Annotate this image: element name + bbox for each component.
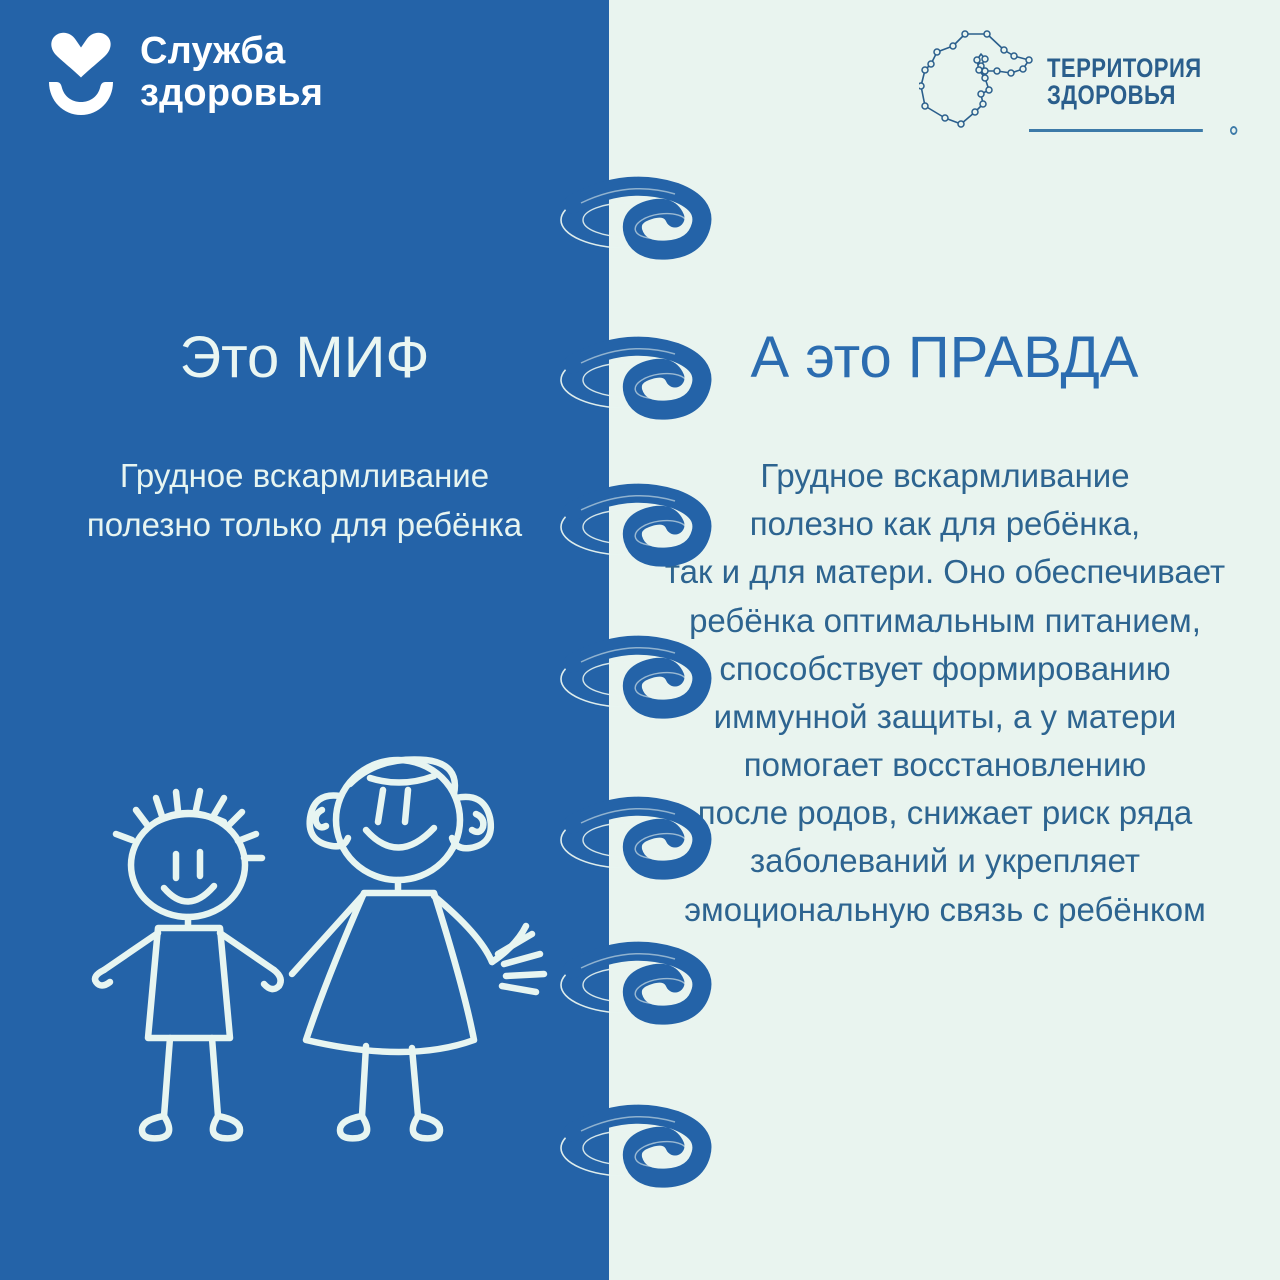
territory-line-2: ЗДОРОВЬЯ: [1047, 82, 1176, 109]
brand-wordmark: Служба здоровья: [140, 31, 323, 115]
heart-smile-logo-icon: [44, 30, 118, 116]
myth-body-text: Грудное вскармливание полезно только для…: [30, 452, 579, 550]
territory-line-1: ТЕРРИТОРИЯ: [1047, 55, 1202, 82]
brand-logo-sluzhba-zdorovya: Служба здоровья: [44, 30, 323, 116]
territory-end-dot-icon: [1230, 126, 1237, 135]
territory-wordmark: ТЕРРИТОРИЯ ЗДОРОВЬЯ: [1047, 55, 1236, 109]
territory-underline: [1029, 129, 1203, 132]
infographic-poster: Служба здоровья: [0, 0, 1280, 1280]
truth-heading: А это ПРАВДА: [609, 328, 1280, 389]
mother-and-child-illustration: [78, 748, 568, 1168]
truth-body-text: Грудное вскармливание полезно как для ре…: [645, 452, 1245, 934]
region-map-dots-icon: [919, 26, 1037, 138]
myth-heading: Это МИФ: [0, 328, 609, 389]
brand-logo-territoriya-zdorovya: ТЕРРИТОРИЯ ЗДОРОВЬЯ: [919, 26, 1236, 138]
